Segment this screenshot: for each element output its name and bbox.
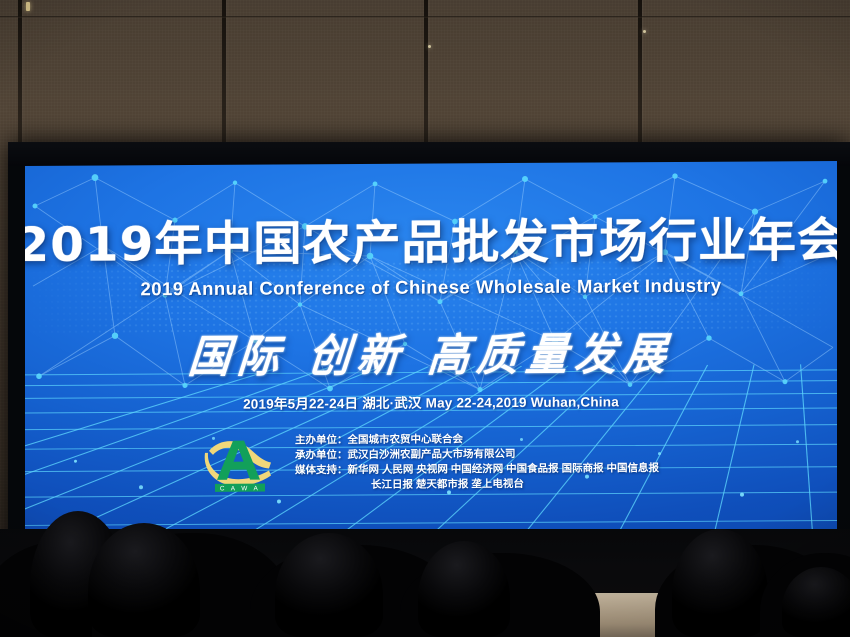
wall-light-glint: [26, 2, 30, 11]
credit-value: 武汉白沙洲农副产品大市场有限公司: [347, 448, 515, 461]
wall-panel-seam: [424, 0, 428, 148]
wall-light-dot: [428, 45, 431, 48]
credit-value: 全国城市农贸中心联合会: [347, 433, 463, 446]
credit-line-media: 媒体支持：新华网 人民网 央视网 中国经济网 中国食品报 国际商报 中国信息报: [295, 461, 659, 478]
wall-panel-line: [0, 16, 850, 18]
wall-panel-seam: [222, 0, 226, 148]
wall-panel-seam: [18, 0, 22, 148]
conference-date-location: 2019年5月22-24日 湖北·武汉 May 22-24,2019 Wuhan…: [25, 389, 837, 414]
conference-photo-scene: 2019年中国农产品批发市场行业年会 2019 Annual Conferenc…: [0, 0, 850, 637]
credit-value: 新华网 人民网 央视网 中国经济网 中国食品报 国际商报 中国信息报: [347, 462, 659, 476]
conference-slogan: 国际 创新 高质量发展: [25, 317, 837, 387]
credit-label: 媒体支持：: [295, 464, 348, 476]
conference-title-chinese: 2019年中国农产品批发市场行业年会: [25, 217, 837, 269]
wall-panel-seam: [638, 0, 642, 148]
conference-title-english: 2019 Annual Conference of Chinese Wholes…: [25, 274, 837, 301]
wall-light-dot: [643, 30, 646, 33]
credit-label: 主办单位：: [295, 434, 348, 446]
credit-label: 承办单位：: [295, 449, 348, 461]
audience-foreground: [0, 477, 850, 637]
